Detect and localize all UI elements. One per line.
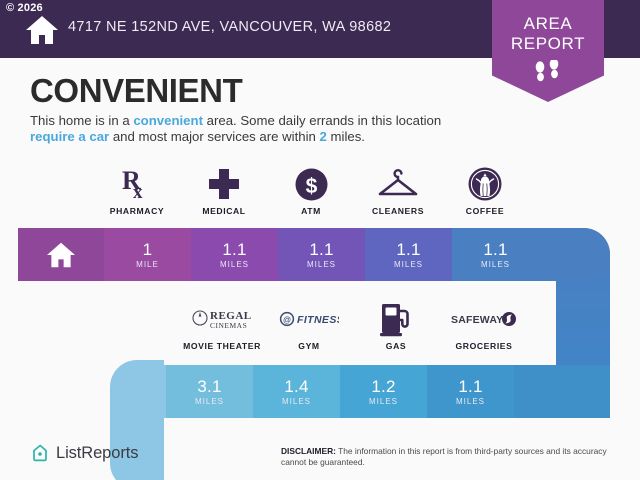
footprints-icon <box>528 60 568 84</box>
listreports-logo: ListReports <box>30 443 138 463</box>
distance-unit: MILES <box>220 260 249 269</box>
service-atm: $ ATM <box>267 165 355 216</box>
subtitle-part-1: This home is in a <box>30 113 133 128</box>
service-label: GAS <box>352 341 440 351</box>
distance-unit: MILES <box>394 260 423 269</box>
service-label: GROCERIES <box>440 341 528 351</box>
distance-unit: MILES <box>369 397 398 406</box>
fitness-icon: @ FITNESS <box>265 300 353 338</box>
starbucks-icon <box>441 165 529 203</box>
service-movie-theater: REGAL CINEMAS MOVIE THEATER <box>178 300 266 351</box>
gas-pump-icon <box>352 300 440 338</box>
svg-text:SAFEWAY: SAFEWAY <box>451 314 503 326</box>
distance-value: 1.2 <box>371 378 395 396</box>
distance-value: 1.1 <box>458 378 482 396</box>
hanger-icon <box>354 165 442 203</box>
distance-segment-head <box>110 365 166 418</box>
subtitle-highlight-convenient: convenient <box>133 113 203 128</box>
area-report-page: © 2026 4717 NE 152ND AVE, VANCOUVER, WA … <box>0 0 640 480</box>
page-title: CONVENIENT <box>30 72 242 110</box>
distance-unit: MILES <box>307 260 336 269</box>
distance-unit: MILES <box>282 397 311 406</box>
svg-text:@: @ <box>283 316 291 325</box>
distance-unit: MILES <box>456 397 485 406</box>
rx-icon: R x <box>93 165 181 203</box>
subtitle-highlight-require-car: require a car <box>30 129 109 144</box>
disclaimer-label: DISCLAIMER: <box>281 446 336 456</box>
distance-segment-gas: 1.2 MILES <box>340 365 427 418</box>
subtitle-highlight-miles: 2 <box>320 129 327 144</box>
service-gym: @ FITNESS GYM <box>265 300 353 351</box>
service-label: MOVIE THEATER <box>178 341 266 351</box>
distance-value: 1 <box>143 241 153 259</box>
distance-segment-tail <box>539 228 610 281</box>
medical-cross-icon <box>180 165 268 203</box>
home-segment <box>18 228 104 281</box>
subtitle-part-2: area. Some daily errands in this locatio… <box>203 113 441 128</box>
service-label: GYM <box>265 341 353 351</box>
distance-value: 1.1 <box>309 241 333 259</box>
distance-value: 1.1 <box>222 241 246 259</box>
service-coffee: COFFEE <box>441 165 529 216</box>
svg-text:CINEMAS: CINEMAS <box>210 321 247 330</box>
badge-line-2: REPORT <box>492 34 604 54</box>
distance-unit: MILES <box>481 260 510 269</box>
distance-segment-atm: 1.1 MILES <box>278 228 365 281</box>
dollar-circle-icon: $ <box>267 165 355 203</box>
distance-bar-row-1: 1 MILE 1.1 MILES 1.1 MILES 1.1 MILES 1.1… <box>18 228 610 281</box>
distance-segment-movie-theater: 3.1 MILES <box>166 365 253 418</box>
service-gas: GAS <box>352 300 440 351</box>
service-label: COFFEE <box>441 206 529 216</box>
distance-segment-tail-2 <box>514 365 610 418</box>
listreports-logo-text: ListReports <box>56 444 138 463</box>
distance-segment-cleaners: 1.1 MILES <box>365 228 452 281</box>
subtitle-part-4: miles. <box>327 129 365 144</box>
svg-text:FITNESS: FITNESS <box>297 314 339 326</box>
distance-segment-pharmacy: 1 MILE <box>104 228 191 281</box>
listreports-logo-icon <box>30 443 50 463</box>
distance-bar-row-2: 3.1 MILES 1.4 MILES 1.2 MILES 1.1 MILES <box>110 365 610 418</box>
service-label: CLEANERS <box>354 206 442 216</box>
subtitle-part-3: and most major services are within <box>109 129 319 144</box>
distance-segment-groceries: 1.1 MILES <box>427 365 514 418</box>
service-label: PHARMACY <box>93 206 181 216</box>
service-cleaners: CLEANERS <box>354 165 442 216</box>
svg-text:$: $ <box>305 175 317 198</box>
service-pharmacy: R x PHARMACY <box>93 165 181 216</box>
area-report-badge: AREA REPORT <box>492 0 604 102</box>
distance-value: 3.1 <box>197 378 221 396</box>
badge-line-1: AREA <box>492 14 604 34</box>
distance-segment-coffee: 1.1 MILES <box>452 228 539 281</box>
service-label: MEDICAL <box>180 206 268 216</box>
distance-value: 1.4 <box>284 378 308 396</box>
disclaimer: DISCLAIMER: The information in this repo… <box>281 446 621 468</box>
page-subtitle: This home is in a convenient area. Some … <box>30 113 460 145</box>
service-medical: MEDICAL <box>180 165 268 216</box>
home-icon <box>46 241 76 269</box>
distance-segment-gym: 1.4 MILES <box>253 365 340 418</box>
property-address: 4717 NE 152ND AVE, VANCOUVER, WA 98682 <box>68 19 391 35</box>
distance-unit: MILES <box>195 397 224 406</box>
copyright-label: © 2026 <box>6 2 43 14</box>
service-groceries: SAFEWAY GROCERIES <box>440 300 528 351</box>
distance-value: 1.1 <box>483 241 507 259</box>
distance-value: 1.1 <box>396 241 420 259</box>
regal-cinemas-icon: REGAL CINEMAS <box>178 300 266 338</box>
distance-unit: MILE <box>136 260 159 269</box>
home-icon <box>25 14 59 46</box>
svg-text:x: x <box>133 182 143 201</box>
safeway-icon: SAFEWAY <box>440 300 528 338</box>
distance-segment-medical: 1.1 MILES <box>191 228 278 281</box>
service-label: ATM <box>267 206 355 216</box>
